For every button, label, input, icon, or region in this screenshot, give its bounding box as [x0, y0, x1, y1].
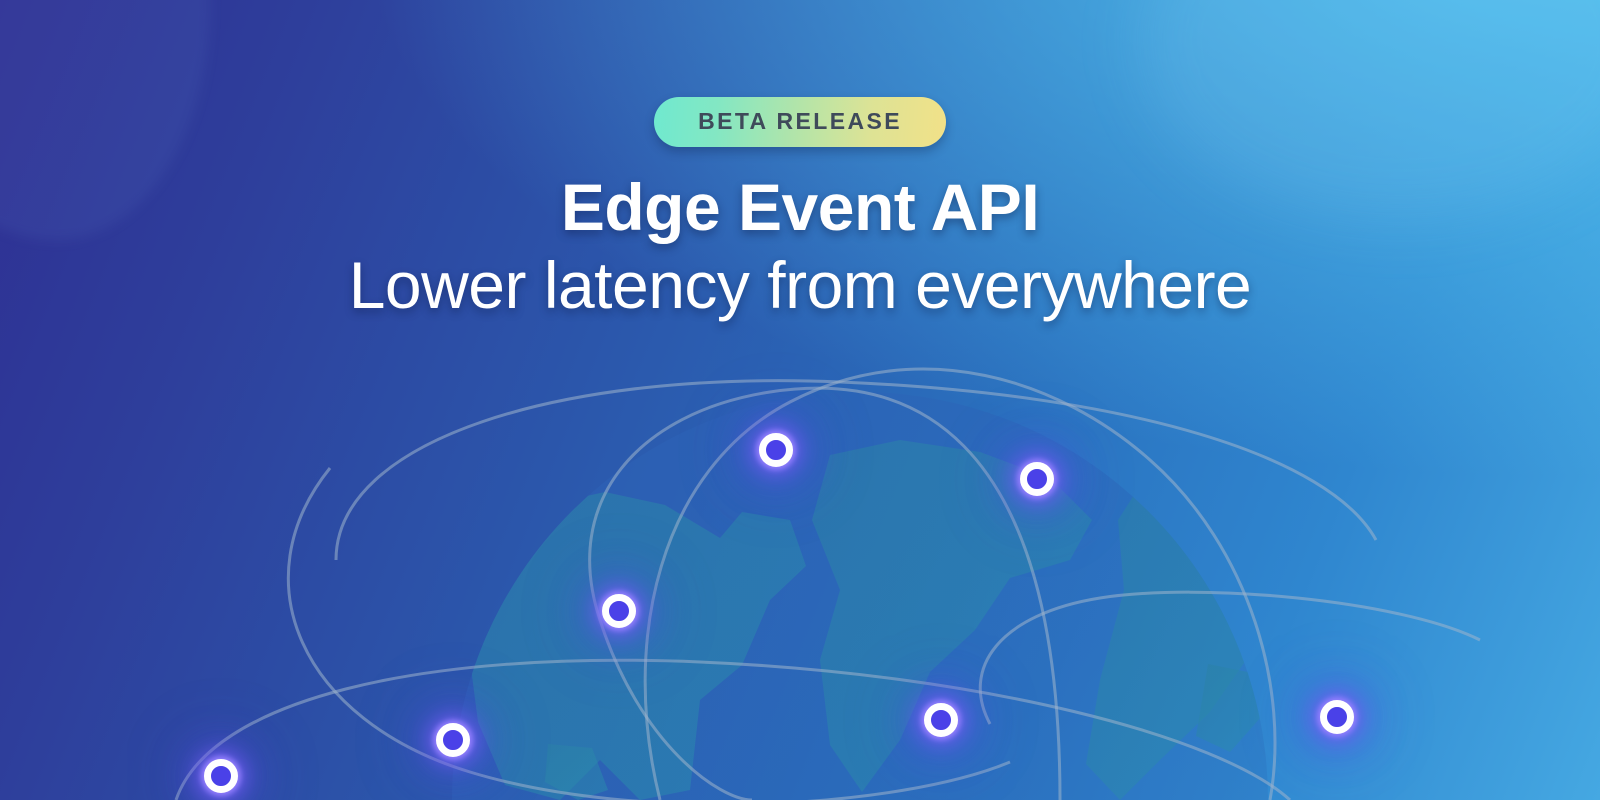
orbit-arc-2	[645, 369, 1275, 800]
orbit-arc-5	[288, 468, 1010, 800]
node-west-africa	[436, 723, 470, 757]
node-asia	[924, 703, 958, 737]
page-title: Edge Event API	[0, 173, 1600, 243]
globe-landmasses	[470, 440, 1272, 800]
orbit-arcs	[176, 369, 1480, 800]
page-subtitle: Lower latency from everywhere	[0, 249, 1600, 323]
node-oceania	[1320, 700, 1354, 734]
orbit-arc-6	[980, 592, 1480, 724]
hero-content: BETA RELEASE Edge Event API Lower latenc…	[0, 0, 1600, 323]
orbit-arc-3	[336, 381, 1376, 560]
orbit-arc-1	[590, 388, 1060, 800]
node-north-america	[759, 433, 793, 467]
node-south-pacific	[204, 759, 238, 793]
node-south-america	[602, 594, 636, 628]
hero-banner: BETA RELEASE Edge Event API Lower latenc…	[0, 0, 1600, 800]
beta-release-badge: BETA RELEASE	[654, 97, 946, 147]
node-europe	[1020, 462, 1054, 496]
globe-sphere	[452, 392, 1268, 800]
orbit-arc-4	[176, 660, 1290, 800]
